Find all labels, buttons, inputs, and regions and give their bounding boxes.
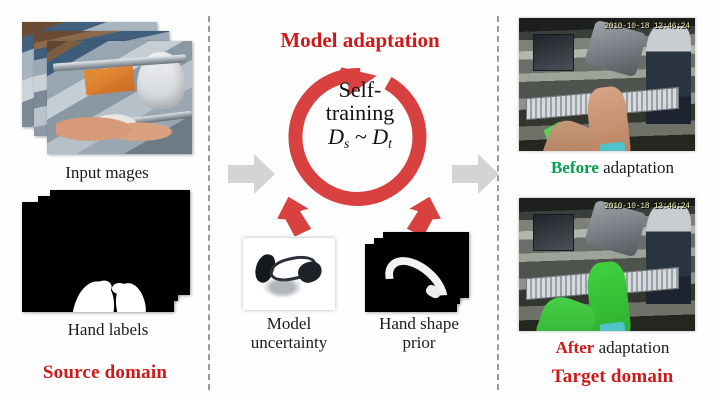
cctv-monitor-before [533, 34, 574, 71]
cctv-cuff-before [599, 142, 625, 151]
formula-tilde: ~ [355, 124, 367, 149]
after-adaptation-image: 2010-10-18 13:46:24 [519, 198, 695, 331]
model-uncertainty-caption-line2: uncertainty [225, 333, 353, 352]
hand-prior-arc [374, 246, 457, 312]
hand-label-front [22, 202, 174, 312]
input-image-front [47, 41, 192, 154]
formula-source-symbol: D [328, 124, 344, 149]
uncertainty-smudge [263, 280, 302, 299]
transition-arrow-right [452, 152, 500, 196]
after-adaptation-caption: After adaptation [505, 338, 720, 358]
hand-shape-prior-caption-line1: Hand shape [355, 314, 483, 333]
hand-label-mask [22, 202, 174, 312]
hand-labels-caption: Hand labels [22, 320, 194, 340]
cctv-monitor-after [533, 214, 574, 251]
figure-canvas: Input mages Hand labels Source domain Mo… [0, 0, 720, 400]
self-training-line2: training [285, 101, 435, 124]
hand-shape-prior-caption: Hand shape prior [355, 314, 483, 352]
before-caption-rest: adaptation [599, 158, 674, 177]
hand-shape-prior-caption-line2: prior [355, 333, 483, 352]
after-caption-rest: adaptation [594, 338, 669, 357]
model-uncertainty-image [243, 238, 335, 310]
after-keyword: After [556, 338, 595, 357]
before-adaptation-caption: Before adaptation [505, 158, 720, 178]
model-uncertainty-caption-line1: Model [225, 314, 353, 333]
formula-source-subscript: s [344, 136, 349, 151]
formula-target-subscript: t [388, 136, 392, 151]
formula-target-symbol: D [372, 124, 388, 149]
right-column: 2010-10-18 13:46:24 Before adaptation 20… [505, 0, 720, 400]
model-uncertainty-caption: Model uncertainty [225, 314, 353, 352]
photo-orange-box [84, 66, 136, 96]
source-domain-label: Source domain [10, 362, 200, 384]
hand-prior-mask [365, 244, 457, 312]
photo-metal-bar-2 [105, 110, 192, 127]
input-images-caption: Input mages [22, 163, 192, 183]
input-photo-front [47, 41, 192, 154]
feedback-arrow-left [277, 196, 311, 236]
mask-hand-left [68, 278, 118, 312]
target-domain-label: Target domain [505, 366, 720, 388]
before-keyword: Before [551, 158, 599, 177]
hand-prior-front [365, 244, 457, 312]
timestamp-before: 2010-10-18 13:46:24 [604, 22, 690, 31]
timestamp-after: 2010-10-18 13:46:24 [604, 202, 690, 211]
center-column: Self- training Ds ~ Dt [225, 0, 495, 400]
feedback-arrow-right [407, 196, 441, 236]
divider-left [208, 16, 210, 390]
divider-right [497, 16, 499, 390]
uncertainty-sheet [243, 238, 335, 310]
hand-shape-prior-stack [365, 232, 473, 314]
domain-distribution-formula: Ds ~ Dt [285, 125, 435, 151]
self-training-line1: Self- [285, 78, 435, 101]
before-adaptation-image: 2010-10-18 13:46:24 [519, 18, 695, 151]
hand-labels-stack [22, 190, 194, 316]
cctv-cuff-after [599, 322, 625, 331]
self-training-text: Self- training Ds ~ Dt [285, 78, 435, 151]
uncertainty-heatmap [243, 238, 335, 310]
